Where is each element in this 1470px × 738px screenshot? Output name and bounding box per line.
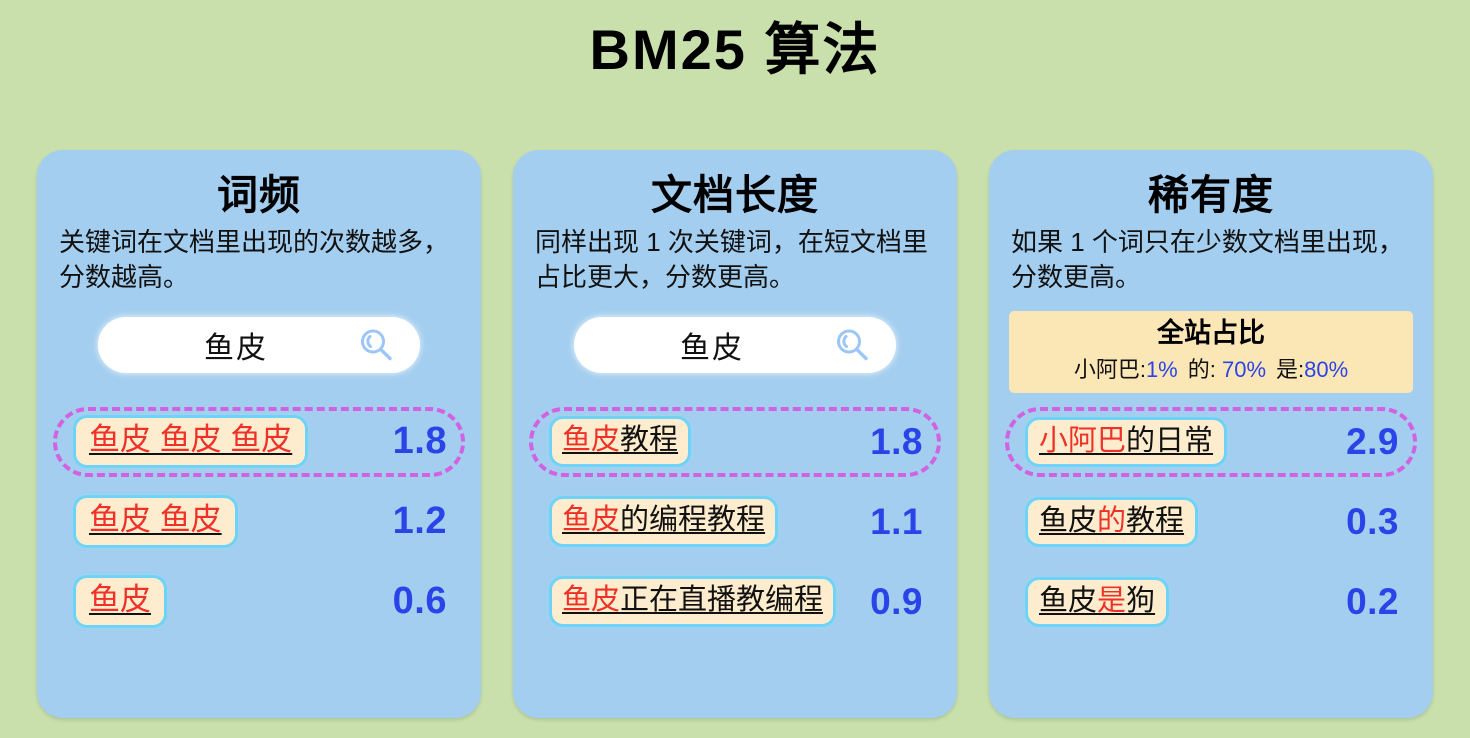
search-icon[interactable] [358,327,394,363]
card-rarity: 稀有度 如果 1 个词只在少数文档里出现，分数更高。 全站占比 小阿巴:1%的:… [989,150,1433,718]
keyword: 是 [1097,585,1126,617]
card-description: 如果 1 个词只在少数文档里出现，分数更高。 [1003,225,1419,294]
result-text: 鱼皮教程 [549,416,691,466]
result-score: 0.9 [856,581,923,623]
search-input[interactable]: 鱼皮 [680,323,744,367]
result-rest: 教程 [1126,505,1184,537]
site-ratio-panel: 全站占比 小阿巴:1%的: 70%是:80% [1009,311,1413,394]
result-row[interactable]: 鱼皮 0.6 [53,567,465,637]
result-row[interactable]: 鱼皮教程 1.8 [529,407,941,477]
search-icon[interactable] [834,327,870,363]
search-bar[interactable]: 鱼皮 [574,317,896,373]
card-title: 词频 [51,171,467,219]
ratio-value-3: 80% [1304,357,1348,382]
result-row[interactable]: 鱼皮 鱼皮 1.2 [53,487,465,557]
result-score: 0.2 [1332,581,1399,623]
result-text: 鱼皮是狗 [1025,577,1169,627]
page-title: BM25 算法 [0,18,1470,82]
card-description: 关键词在文档里出现的次数越多，分数越高。 [51,225,467,294]
result-row[interactable]: 鱼皮的教程 0.3 [1005,487,1417,557]
keyword: 鱼皮 [89,582,151,617]
result-score: 2.9 [1332,421,1399,463]
result-score: 1.2 [379,500,447,543]
card-title: 文档长度 [527,171,943,219]
card-document-length: 文档长度 同样出现 1 次关键词，在短文档里占比更大，分数更高。 鱼皮 鱼皮教程… [513,150,957,718]
result-prefix: 鱼皮 [1039,585,1097,617]
ratio-value-2: 70% [1222,357,1266,382]
result-score: 0.6 [379,580,447,623]
site-ratio-title: 全站占比 [1009,317,1413,351]
result-list: 鱼皮教程 1.8 鱼皮的编程教程 1.1 鱼皮正在直播教编程 0.9 [527,407,943,637]
result-list: 小阿巴的日常 2.9 鱼皮的教程 0.3 鱼皮是狗 0.2 [1003,407,1419,637]
keyword: 的 [1097,505,1126,537]
result-text: 鱼皮 鱼皮 鱼皮 [73,415,308,468]
result-prefix: 鱼皮 [1039,505,1097,537]
keyword: 鱼皮 [562,424,620,456]
result-score: 1.8 [856,421,923,463]
search-input[interactable]: 鱼皮 [204,323,268,367]
keyword: 鱼皮 [562,584,620,616]
result-text: 鱼皮正在直播教编程 [549,576,836,626]
result-row[interactable]: 鱼皮 鱼皮 鱼皮 1.8 [53,407,465,477]
cards-row: 词频 关键词在文档里出现的次数越多，分数越高。 鱼皮 鱼皮 鱼皮 鱼皮 1.8 [37,150,1433,718]
result-score: 0.3 [1332,501,1399,543]
result-text: 鱼皮 鱼皮 [73,495,238,548]
ratio-label-2: 的: [1188,357,1222,382]
result-list: 鱼皮 鱼皮 鱼皮 1.8 鱼皮 鱼皮 1.2 鱼皮 0.6 [51,407,467,637]
result-row[interactable]: 鱼皮正在直播教编程 0.9 [529,567,941,637]
card-description: 同样出现 1 次关键词，在短文档里占比更大，分数更高。 [527,225,943,294]
ratio-label-3: 是: [1276,357,1304,382]
result-row[interactable]: 鱼皮是狗 0.2 [1005,567,1417,637]
ratio-value-1: 1% [1146,357,1178,382]
card-title: 稀有度 [1003,171,1419,219]
result-rest: 的编程教程 [620,504,765,536]
result-rest: 正在直播教编程 [620,584,823,616]
result-score: 1.1 [856,501,923,543]
result-text: 鱼皮的编程教程 [549,496,778,546]
keyword: 鱼皮 鱼皮 鱼皮 [89,422,292,457]
keyword: 鱼皮 鱼皮 [89,502,222,537]
result-score: 1.8 [379,420,447,463]
search-bar[interactable]: 鱼皮 [98,317,420,373]
result-text: 鱼皮 [73,575,167,628]
result-rest: 的日常 [1126,425,1213,457]
keyword: 小阿巴 [1039,425,1126,457]
infographic-root: BM25 算法 词频 关键词在文档里出现的次数越多，分数越高。 鱼皮 鱼皮 鱼皮… [0,0,1470,738]
card-term-frequency: 词频 关键词在文档里出现的次数越多，分数越高。 鱼皮 鱼皮 鱼皮 鱼皮 1.8 [37,150,481,718]
result-row[interactable]: 小阿巴的日常 2.9 [1005,407,1417,477]
result-row[interactable]: 鱼皮的编程教程 1.1 [529,487,941,557]
result-rest: 教程 [620,424,678,456]
result-text: 小阿巴的日常 [1025,417,1227,467]
result-text: 鱼皮的教程 [1025,497,1198,547]
keyword: 鱼皮 [562,504,620,536]
result-rest: 狗 [1126,585,1155,617]
site-ratio-values: 小阿巴:1%的: 70%是:80% [1009,352,1413,384]
ratio-label-1: 小阿巴: [1074,357,1146,382]
